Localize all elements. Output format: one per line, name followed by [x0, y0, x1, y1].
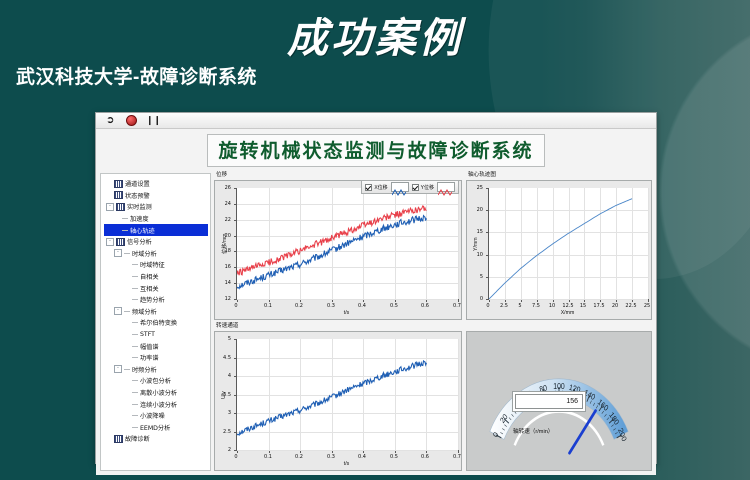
gauge-value-display: 156	[515, 394, 583, 409]
xtick	[458, 299, 459, 302]
series-layer	[237, 188, 458, 299]
grid-y	[237, 450, 458, 451]
tree-connector	[132, 264, 138, 265]
displacement-legend[interactable]: X位移 Y位移	[361, 180, 459, 194]
ytick-label: 24	[225, 201, 231, 207]
speed-gauge[interactable]: 020406080100120140160180200 156 轴转速（r/mi…	[466, 331, 652, 471]
tree-item-label: 状态预警	[125, 191, 150, 200]
tree-connector	[124, 311, 130, 312]
top-row: 位移 X位移	[214, 172, 652, 320]
xtick	[648, 299, 649, 302]
slide-canvas: 成功案例 武汉科技大学-故障诊断系统 ➲ ❙❙ 旋转机械状态监测与故障诊断系统 …	[0, 0, 750, 480]
slide-subtitle: 武汉科技大学-故障诊断系统	[16, 62, 257, 89]
tree-item-11[interactable]: -频域分析	[104, 306, 208, 318]
ytick-label: 26	[225, 185, 231, 191]
tree-connector	[132, 299, 138, 300]
tree-item-7[interactable]: 时域特征	[104, 259, 208, 271]
tree-indent	[124, 401, 130, 407]
gauge-panel: 020406080100120140160180200 156 轴转速（r/mi…	[466, 323, 652, 471]
tree-indent	[124, 332, 130, 338]
speed-panel: 转速通道 00.10.20.30.40.50.60.722.533.544.55…	[214, 323, 462, 471]
tree-indent	[124, 413, 130, 419]
tree-connector	[132, 322, 138, 323]
tree-connector	[124, 253, 130, 254]
orbit-chart[interactable]: 02.557.51012.51517.52022.5250510152025X/…	[466, 180, 652, 320]
ytick-label: 4.5	[223, 355, 231, 361]
ytick-label: 12	[225, 296, 231, 302]
application-window: ➲ ❙❙ 旋转机械状态监测与故障诊断系统 通道设置状态预警-实时监测加速度轴心轨…	[95, 112, 657, 464]
legend-y-swatch[interactable]	[437, 182, 455, 192]
tree-item-2[interactable]: -实时监测	[104, 201, 208, 213]
tree-connector	[132, 288, 138, 289]
xtick-label: 5	[518, 303, 521, 309]
ytick-label: 14	[225, 280, 231, 286]
slide-title: 成功案例	[0, 4, 750, 64]
tree-connector	[132, 427, 138, 428]
tree-connector	[132, 276, 138, 277]
legend-x-label: X位移	[374, 184, 387, 191]
xtick-label: 0.3	[327, 303, 335, 309]
legend-y-label: Y位移	[421, 184, 434, 191]
grid-x	[458, 188, 459, 299]
tree-connector	[124, 369, 130, 370]
tree-item-label: 时频分析	[132, 365, 157, 374]
xtick-label: 0.2	[295, 303, 303, 309]
ytick-label: 3	[228, 410, 231, 416]
gauge-label: 轴转速（r/min）	[513, 427, 553, 435]
app-title-bar: 旋转机械状态监测与故障诊断系统	[96, 129, 656, 170]
legend-x-checkbox[interactable]	[365, 184, 372, 191]
tree-item-label: STFT	[140, 331, 155, 338]
tree-connector	[132, 392, 138, 393]
y-axis-label: Y/mm	[473, 237, 479, 251]
ytick	[234, 450, 237, 451]
tree-item-17[interactable]: 小波包分析	[104, 375, 208, 387]
tree-book-icon	[116, 238, 125, 246]
xtick-label: 20	[612, 303, 618, 309]
tree-item-3[interactable]: 加速度	[104, 213, 208, 225]
ytick-label: 16	[225, 264, 231, 270]
tree-expander[interactable]: -	[114, 249, 122, 257]
xtick-label: 0	[234, 454, 237, 460]
legend-y-item[interactable]: Y位移	[412, 184, 434, 191]
tree-item-label: 自相关	[140, 272, 159, 281]
tree-connector	[122, 218, 128, 219]
ytick-label: 2	[228, 447, 231, 453]
xtick-label: 15	[580, 303, 586, 309]
tree-item-15[interactable]: 功率谱	[104, 352, 208, 364]
tree-book-icon	[114, 435, 123, 443]
tree-indent	[124, 343, 130, 349]
tree-item-22[interactable]: 故障诊断	[104, 433, 208, 445]
speed-panel-label: 转速通道	[216, 323, 462, 330]
displacement-chart[interactable]: X位移 Y位移	[214, 180, 462, 320]
workspace: 位移 X位移	[211, 170, 656, 475]
stop-icon[interactable]	[126, 115, 137, 126]
app-title: 旋转机械状态监测与故障诊断系统	[207, 134, 544, 167]
xtick-label: 7.5	[532, 303, 540, 309]
ytick-label: 20	[477, 207, 483, 213]
speed-chart[interactable]: 00.10.20.30.40.50.60.722.533.544.55t/sU/…	[214, 331, 462, 471]
tree-connector	[132, 346, 138, 347]
xtick	[458, 450, 459, 453]
xtick-label: 0.1	[264, 303, 272, 309]
tree-indent	[124, 424, 130, 430]
ytick-label: 2.5	[223, 429, 231, 435]
legend-x-item[interactable]: X位移	[365, 184, 387, 191]
tree-item-18[interactable]: 离散小波分析	[104, 387, 208, 399]
ytick-label: 22	[225, 217, 231, 223]
tree-item-4[interactable]: 轴心轨迹	[104, 224, 208, 236]
navigation-tree[interactable]: 通道设置状态预警-实时监测加速度轴心轨迹-信号分析-时域分析时域特征自相关互相关…	[100, 173, 211, 471]
ytick	[234, 299, 237, 300]
x-axis-label: t/s	[344, 461, 349, 467]
xtick-label: 0.1	[264, 454, 272, 460]
tree-indent	[124, 285, 130, 291]
tree-connector	[122, 230, 128, 231]
x-axis-label: X/mm	[561, 310, 575, 316]
ytick-label: 10	[477, 252, 483, 258]
tree-book-icon	[114, 191, 123, 199]
tree-connector	[132, 404, 138, 405]
tree-book-icon	[116, 203, 125, 211]
grid-x	[648, 188, 649, 299]
grid-y	[237, 299, 458, 300]
xtick-label: 0.6	[421, 303, 429, 309]
tree-item-13[interactable]: STFT	[104, 329, 208, 341]
xtick-label: 0.4	[358, 303, 366, 309]
orbit-panel: 轴心轨迹图 02.557.51012.51517.52022.525051015…	[466, 172, 652, 320]
xtick-label: 25	[644, 303, 650, 309]
series-Y位移	[237, 206, 426, 275]
tree-item-label: 通道设置	[125, 179, 150, 188]
xtick-label: 10	[549, 303, 555, 309]
gauge-needle	[569, 411, 595, 453]
xtick-label: 0	[234, 303, 237, 309]
tree-expander[interactable]: -	[106, 203, 114, 211]
tree-indent	[106, 436, 112, 442]
run-icon[interactable]: ➲	[106, 115, 117, 126]
tree-item-label: 功率谱	[140, 353, 159, 362]
xtick-label: 2.5	[500, 303, 508, 309]
series-layer	[237, 339, 458, 450]
xtick-label: 0.3	[327, 454, 335, 460]
tree-item-label: 实时监测	[127, 202, 152, 211]
tree-item-label: 小波降噪	[140, 411, 165, 420]
tree-item-label: 信号分析	[127, 237, 152, 246]
xtick-label: 0.5	[390, 454, 398, 460]
x-axis-label: t/s	[344, 310, 349, 316]
tree-connector	[132, 380, 138, 381]
tree-item-label: EEMD分析	[140, 423, 170, 432]
tree-item-0[interactable]: 通道设置	[104, 178, 208, 190]
tree-indent	[114, 216, 120, 222]
xtick-label: 0.6	[421, 454, 429, 460]
tree-indent	[124, 320, 130, 326]
bottom-row: 转速通道 00.10.20.30.40.50.60.722.533.544.55…	[214, 323, 652, 471]
y-axis-label: 位移/mm	[221, 233, 228, 253]
tree-item-label: 轴心轨迹	[130, 226, 155, 235]
tree-item-label: 离散小波分析	[140, 388, 177, 397]
tree-item-label: 加速度	[130, 214, 149, 223]
app-toolbar: ➲ ❙❙	[96, 113, 656, 129]
tree-connector	[132, 334, 138, 335]
xtick-label: 0.7	[453, 454, 461, 460]
displacement-panel: 位移 X位移	[214, 172, 462, 320]
tree-item-6[interactable]: -时域分析	[104, 248, 208, 260]
ytick-label: 15	[477, 229, 483, 235]
grid-y	[489, 299, 648, 300]
tree-indent	[124, 389, 130, 395]
legend-y-checkbox[interactable]	[412, 184, 419, 191]
grid-x	[458, 339, 459, 450]
tree-item-label: 互相关	[140, 284, 159, 293]
tree-item-10[interactable]: 趋势分析	[104, 294, 208, 306]
tree-item-14[interactable]: 幅值谱	[104, 340, 208, 352]
tree-expander[interactable]: -	[106, 238, 114, 246]
tree-indent	[106, 181, 112, 187]
displacement-plot-area	[236, 188, 458, 300]
tree-item-label: 幅值谱	[140, 342, 159, 351]
tree-indent	[124, 262, 130, 268]
ytick-label: 5	[480, 274, 483, 280]
tree-item-label: 故障诊断	[125, 434, 150, 443]
tree-item-label: 频域分析	[132, 307, 157, 316]
series-U	[237, 361, 426, 435]
orbit-panel-label: 轴心轨迹图	[468, 172, 652, 179]
tree-item-label: 时域分析	[132, 249, 157, 258]
ytick-label: 25	[477, 185, 483, 191]
tree-connector	[132, 415, 138, 416]
tree-item-9[interactable]: 互相关	[104, 282, 208, 294]
tree-item-label: 时域特征	[140, 260, 165, 269]
ytick-label: 5	[228, 336, 231, 342]
tree-book-icon	[114, 180, 123, 188]
xtick-label: 0.5	[390, 303, 398, 309]
tree-item-20[interactable]: 小波降噪	[104, 410, 208, 422]
app-body: 通道设置状态预警-实时监测加速度轴心轨迹-信号分析-时域分析时域特征自相关互相关…	[96, 170, 656, 475]
xtick-label: 22.5	[625, 303, 636, 309]
ytick-label: 4	[228, 373, 231, 379]
ytick	[486, 299, 489, 300]
ytick-label: 0	[480, 296, 483, 302]
tree-indent	[124, 274, 130, 280]
displacement-panel-label: 位移	[216, 172, 462, 179]
gauge-panel-spacer	[468, 323, 652, 330]
tree-item-16[interactable]: -时频分析	[104, 364, 208, 376]
tree-item-1[interactable]: 状态预警	[104, 190, 208, 202]
tree-connector	[132, 357, 138, 358]
tree-item-label: 希尔伯特变换	[140, 318, 177, 327]
speed-plot-area	[236, 339, 458, 451]
tree-item-12[interactable]: 希尔伯特变换	[104, 317, 208, 329]
tree-item-19[interactable]: 连续小波分析	[104, 398, 208, 410]
xtick-label: 0	[486, 303, 489, 309]
orbit-plot-area	[488, 188, 648, 300]
tree-indent	[114, 227, 120, 233]
series-layer	[489, 188, 648, 299]
tree-item-label: 趋势分析	[140, 295, 165, 304]
tree-indent	[124, 355, 130, 361]
xtick-label: 0.7	[453, 303, 461, 309]
xtick-label: 17.5	[593, 303, 604, 309]
xtick-label: 0.2	[295, 454, 303, 460]
tree-expander[interactable]: -	[114, 307, 122, 315]
series-轴心轨迹	[489, 199, 632, 299]
tree-item-21[interactable]: EEMD分析	[104, 421, 208, 433]
xtick-label: 0.4	[358, 454, 366, 460]
gauge-tick-label: 100	[553, 382, 564, 392]
tree-indent	[106, 192, 112, 198]
pause-icon[interactable]: ❙❙	[146, 115, 157, 126]
tree-item-8[interactable]: 自相关	[104, 271, 208, 283]
tree-indent	[124, 378, 130, 384]
tree-item-5[interactable]: -信号分析	[104, 236, 208, 248]
tree-item-label: 连续小波分析	[140, 400, 177, 409]
tree-item-label: 小波包分析	[140, 376, 171, 385]
tree-expander[interactable]: -	[114, 365, 122, 373]
series-X位移	[237, 216, 426, 289]
y-axis-label: U/v	[221, 391, 227, 399]
tree-indent	[124, 297, 130, 303]
xtick-label: 12.5	[562, 303, 573, 309]
legend-x-swatch[interactable]	[391, 182, 409, 192]
